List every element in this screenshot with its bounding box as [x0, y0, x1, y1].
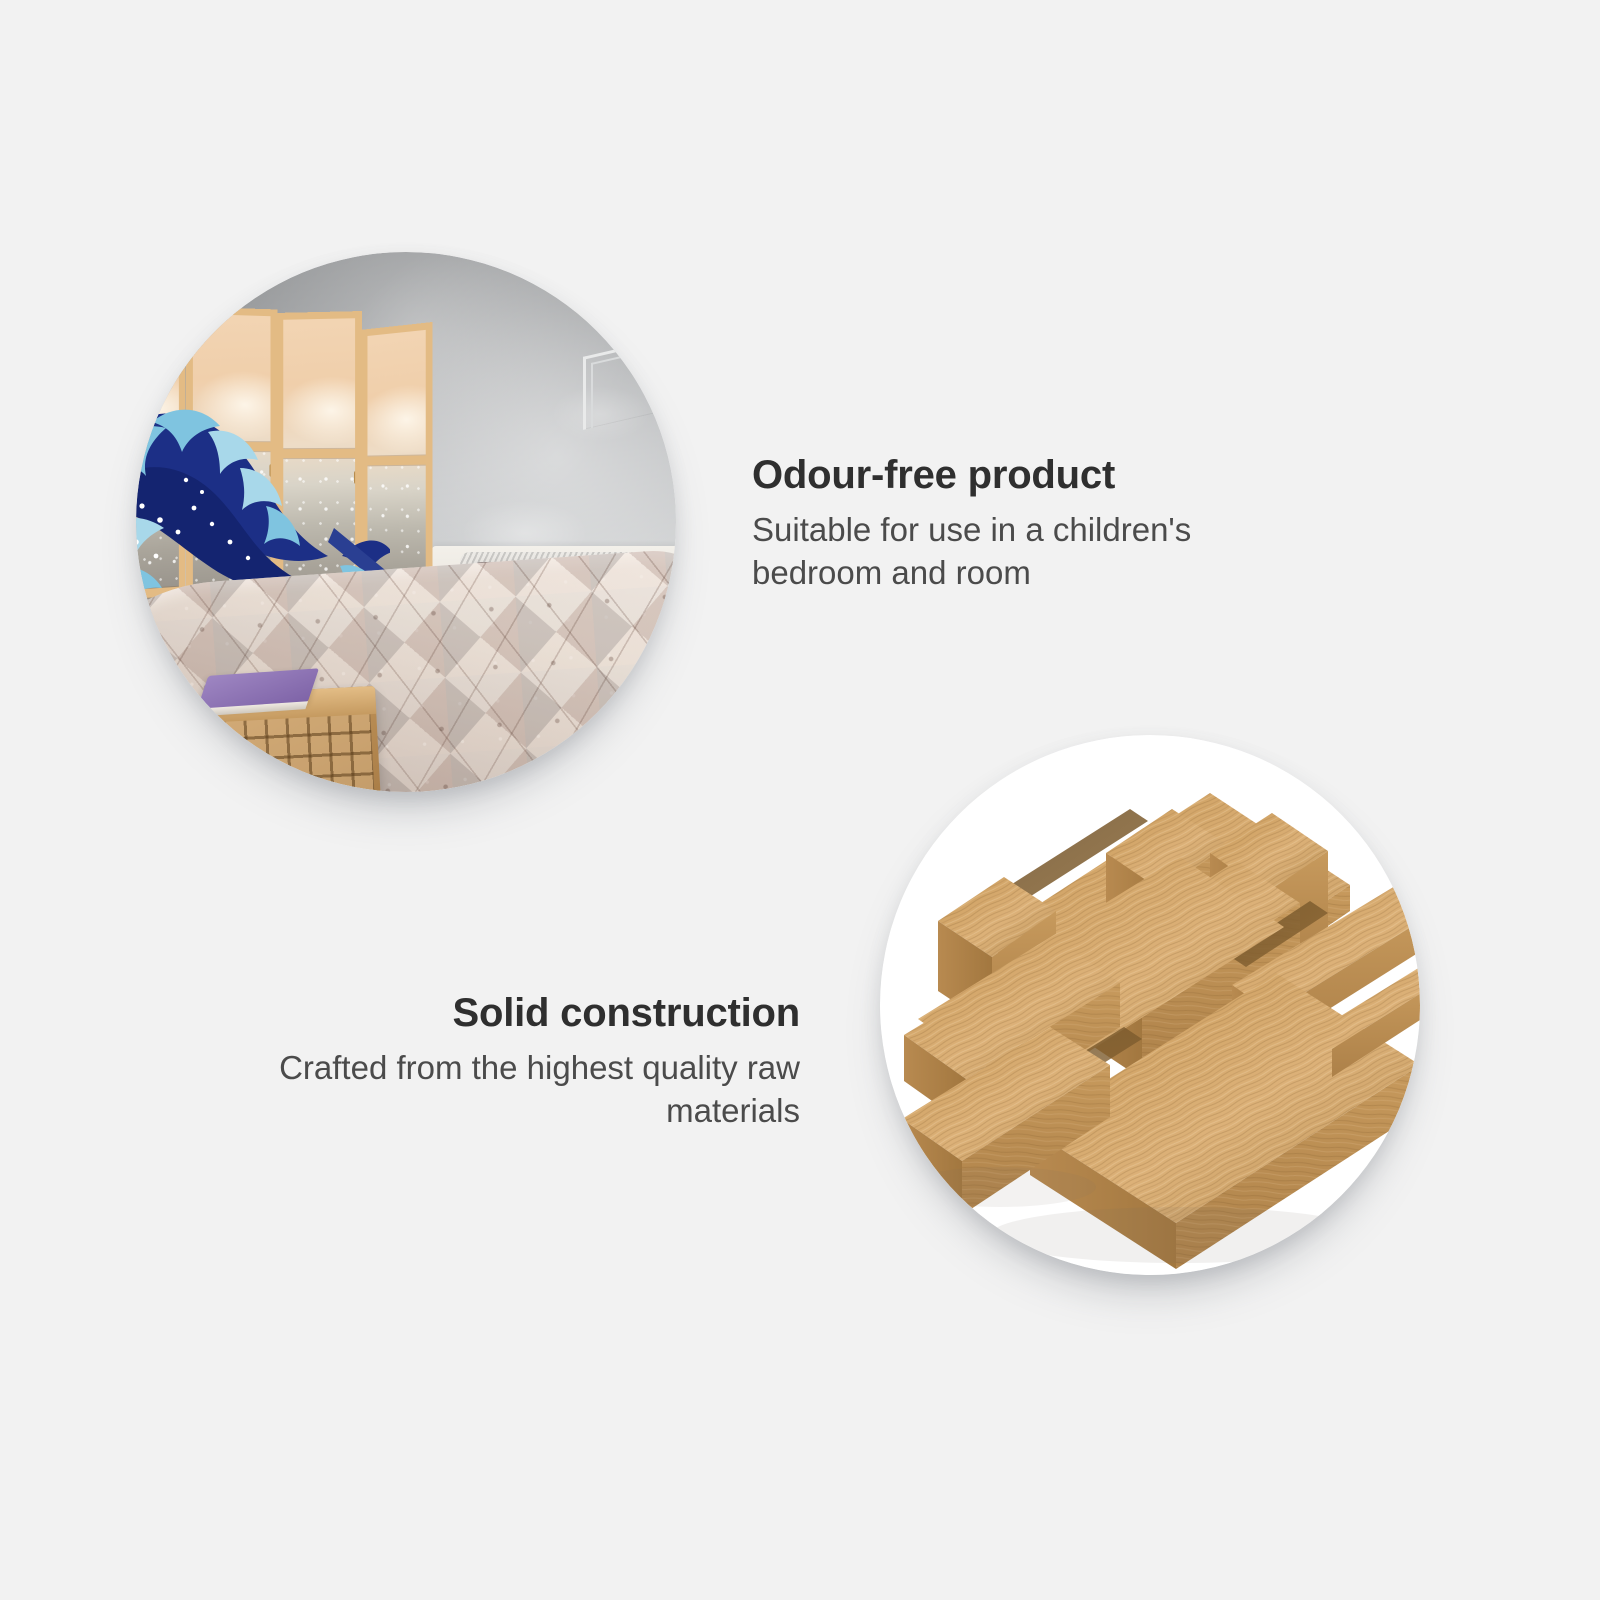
odour-free-description: Suitable for use in a children's bedroom…: [752, 509, 1312, 595]
purple-book: [197, 668, 319, 709]
panel-1-mid-rail: [136, 443, 185, 453]
timber-photo-inner: [880, 735, 1420, 1275]
panel-3-hinge: [354, 471, 359, 484]
solid-construction-description: Crafted from the highest quality raw mat…: [232, 1047, 800, 1133]
panel-2-hinge: [270, 464, 275, 477]
panel-4-mid-rail: [361, 455, 432, 465]
timber-stack-illustration: [880, 735, 1420, 1275]
solid-construction-title: Solid construction: [232, 990, 800, 1037]
divider-panel-1: [136, 310, 185, 629]
panel-2-mid-rail: [186, 442, 278, 451]
panel-3-mid-rail: [276, 448, 362, 457]
quilt-floral-pattern: [136, 547, 676, 792]
bedroom-photo-inner: [136, 252, 676, 792]
odour-free-text-block: Odour-free product Suitable for use in a…: [752, 452, 1312, 595]
bedroom-with-room-divider-photo: [136, 252, 676, 792]
solid-construction-text-block: Solid construction Crafted from the high…: [232, 990, 800, 1133]
stacked-timber-planks-photo: [880, 735, 1420, 1275]
odour-free-title: Odour-free product: [752, 452, 1312, 499]
panel-1-hinge: [178, 464, 183, 477]
patchwork-quilt: [136, 547, 676, 792]
infographic-canvas: Odour-free product Suitable for use in a…: [0, 0, 1600, 1600]
